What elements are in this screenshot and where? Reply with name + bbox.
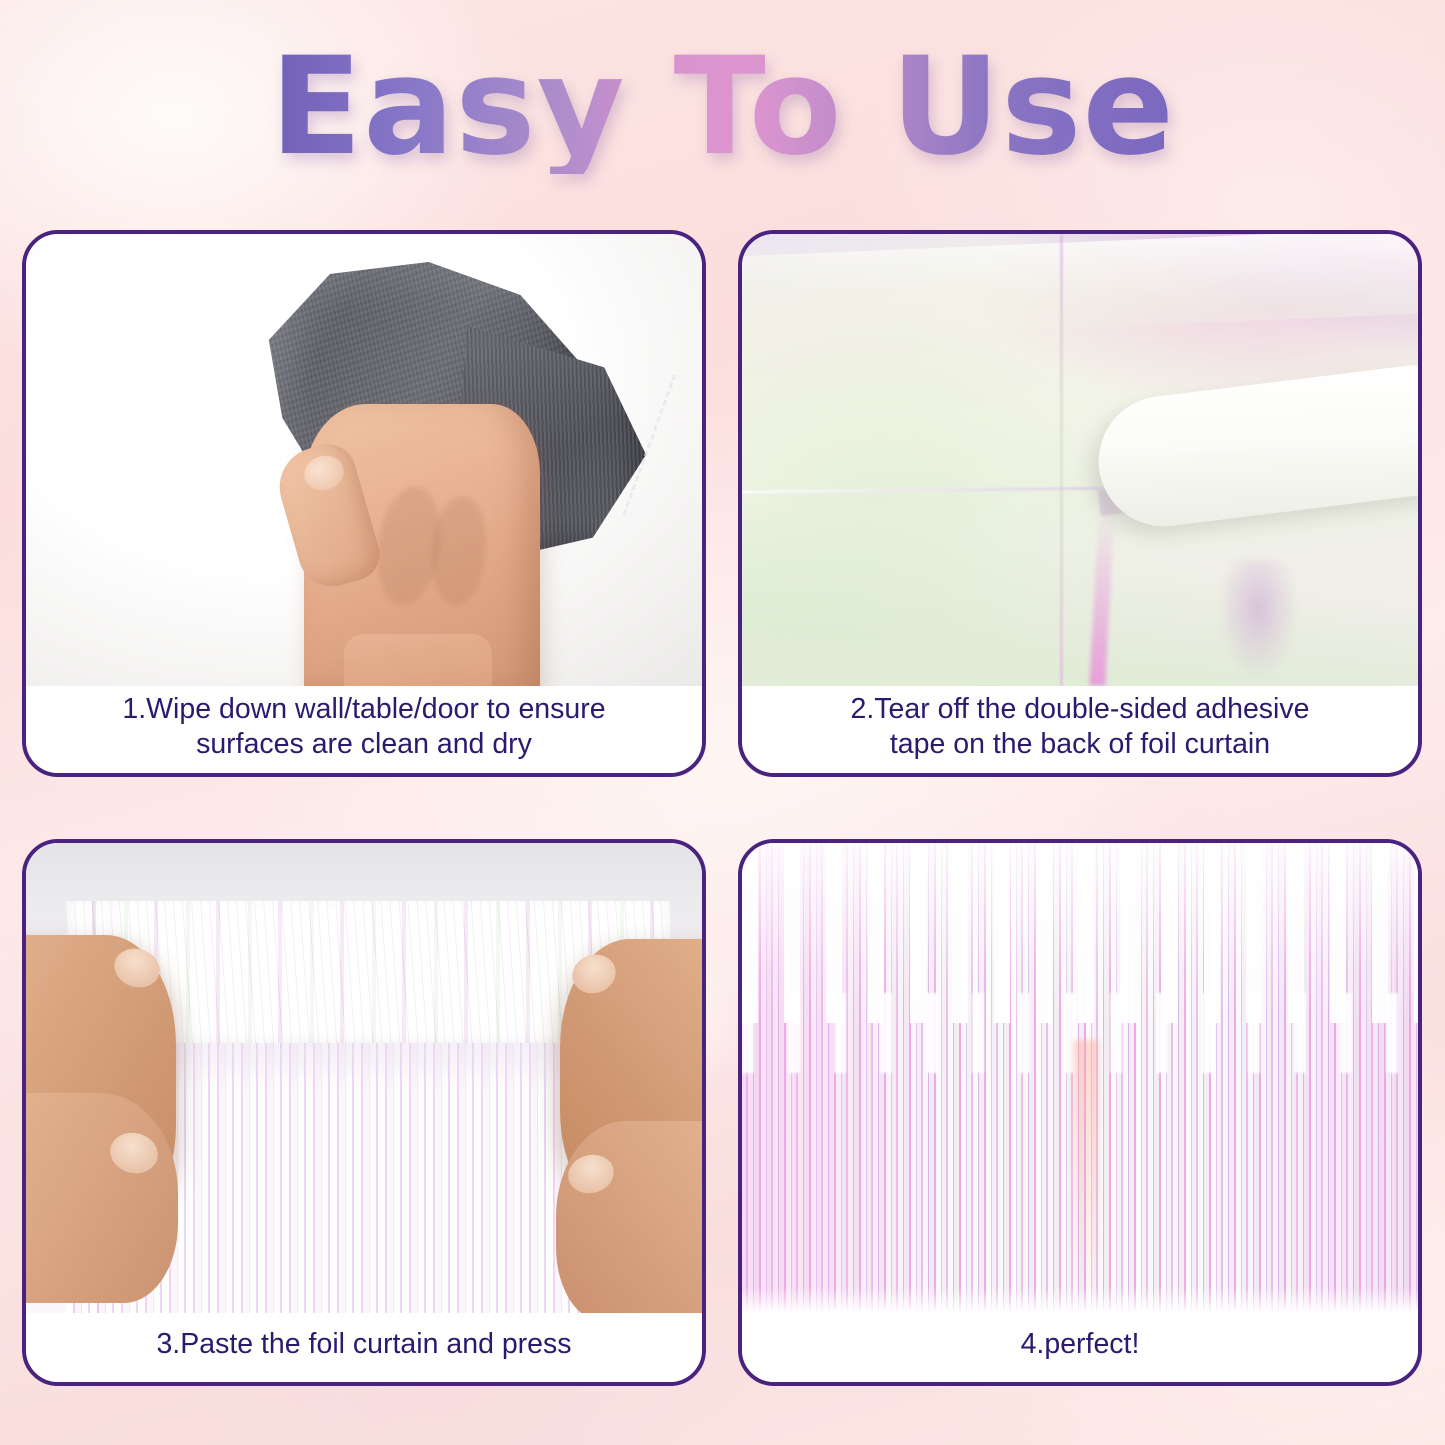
step-4-caption-line1: 4.perfect! — [1021, 1327, 1140, 1361]
steps-grid: 1.Wipe down wall/table/door to ensure su… — [22, 230, 1422, 1386]
page-title: Easy To Use — [270, 39, 1175, 174]
step-2-photo — [742, 234, 1418, 686]
wrist — [344, 634, 492, 686]
step-4-photo — [742, 843, 1418, 1313]
step-3-photo — [26, 843, 702, 1313]
curtain-warm-reflection — [1073, 1040, 1099, 1313]
step-2-caption-line1: 2.Tear off the double-sided adhesive — [851, 692, 1310, 726]
step-card-3: 3.Paste the foil curtain and press — [22, 839, 706, 1386]
step-3-caption: 3.Paste the foil curtain and press — [26, 1313, 702, 1382]
step-3-caption-line1: 3.Paste the foil curtain and press — [156, 1327, 571, 1361]
step-1-caption-line1: 1.Wipe down wall/table/door to ensure — [122, 692, 605, 726]
foil-vertical-crease — [1060, 234, 1063, 686]
step-2-caption-line2: tape on the back of foil curtain — [851, 727, 1310, 761]
step-card-1: 1.Wipe down wall/table/door to ensure su… — [22, 230, 706, 777]
step-1-photo — [26, 234, 702, 686]
foil-highlight-blob — [1218, 560, 1298, 680]
left-hand-lower — [26, 1093, 178, 1303]
step-card-4: 4.perfect! — [738, 839, 1422, 1386]
curtain-bottom-fade — [742, 1287, 1418, 1313]
step-4-caption: 4.perfect! — [742, 1313, 1418, 1382]
step-1-caption: 1.Wipe down wall/table/door to ensure su… — [26, 686, 702, 773]
step-2-caption: 2.Tear off the double-sided adhesive tap… — [742, 686, 1418, 773]
right-hand-lower — [556, 1121, 702, 1313]
step-card-2: 2.Tear off the double-sided adhesive tap… — [738, 230, 1422, 777]
step-1-caption-line2: surfaces are clean and dry — [122, 727, 605, 761]
page-title-container: Easy To Use — [0, 36, 1445, 176]
